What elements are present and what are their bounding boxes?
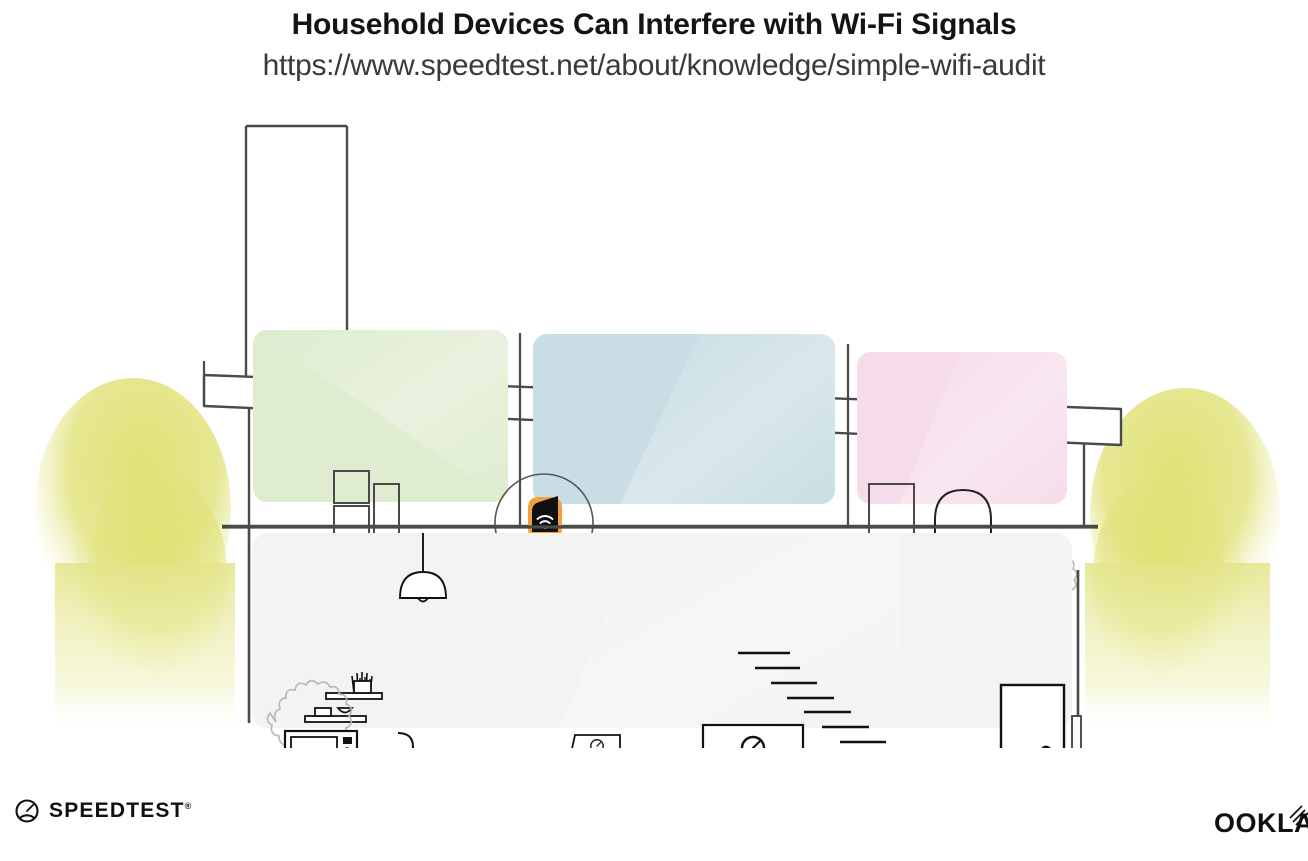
page-title: Household Devices Can Interfere with Wi-… xyxy=(0,0,1308,42)
speedtest-gauge-icon xyxy=(14,798,40,824)
ookla-mark-icon xyxy=(1288,802,1308,832)
television: SPEEDTEST xyxy=(703,725,803,748)
footer: SPEEDTEST® OOKLA xyxy=(0,780,1308,861)
laptop: SPEEDTEST xyxy=(563,735,626,748)
foliage-left xyxy=(35,378,235,738)
speedtest-wordmark: SPEEDTEST® xyxy=(49,799,191,823)
header: Household Devices Can Interfere with Wi-… xyxy=(0,0,1308,83)
house-cutaway-illustration: SPEEDTEST xyxy=(0,108,1308,748)
front-door[interactable] xyxy=(1001,685,1064,748)
door-frame-trim xyxy=(1072,716,1081,748)
speedtest-registered-mark: ® xyxy=(185,801,192,811)
house-diagram-svg: SPEEDTEST xyxy=(0,108,1308,748)
speedtest-logo[interactable]: SPEEDTEST® xyxy=(14,798,191,824)
wifi-router[interactable] xyxy=(528,496,562,539)
source-url: https://www.speedtest.net/about/knowledg… xyxy=(0,42,1308,83)
speedtest-wordmark-text: SPEEDTEST xyxy=(49,799,185,822)
microwave-oven xyxy=(285,731,357,748)
ookla-logo[interactable]: OOKLA xyxy=(1214,802,1308,839)
infographic-page: Household Devices Can Interfere with Wi-… xyxy=(0,0,1308,861)
dining-area: SPEEDTEST xyxy=(467,735,650,748)
